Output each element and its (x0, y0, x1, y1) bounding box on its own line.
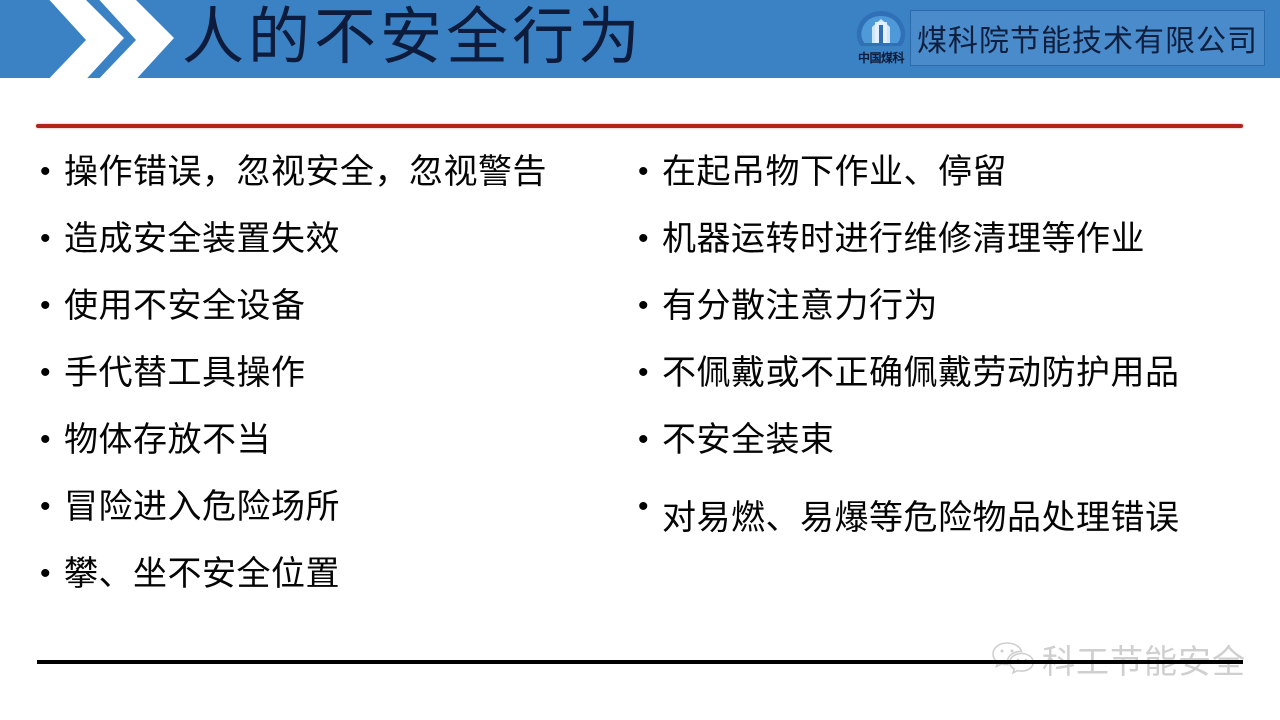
list-item: • 造成安全装置失效 (40, 217, 620, 284)
list-item: • 攀、坐不安全位置 (40, 552, 620, 619)
bullet-dot-icon: • (40, 351, 64, 395)
bullet-dot-icon: • (638, 418, 662, 462)
list-item: • 冒险进入危险场所 (40, 485, 620, 552)
watermark: 科工节能安全 (990, 632, 1246, 686)
footer-divider-black (37, 660, 1243, 664)
list-item: • 不佩戴或不正确佩戴劳动防护用品 (638, 351, 1248, 418)
list-item: • 手代替工具操作 (40, 351, 620, 418)
page-title: 人的不安全行为 (182, 0, 644, 78)
header-divider-red (36, 124, 1243, 128)
list-item-label: 手代替工具操作 (64, 351, 620, 395)
list-item: • 有分散注意力行为 (638, 284, 1248, 351)
list-item: • 对易燃、易爆等危险物品处理错误 (638, 485, 1248, 619)
list-item-label: 在起吊物下作业、停留 (662, 150, 1248, 194)
list-item: • 操作错误，忽视安全，忽视警告 (40, 150, 620, 217)
list-item-label: 机器运转时进行维修清理等作业 (662, 217, 1248, 261)
list-item-label: 对易燃、易爆等危险物品处理错误 (662, 485, 1248, 552)
list-item: • 物体存放不当 (40, 418, 620, 485)
watermark-label: 科工节能安全 (1042, 635, 1246, 683)
bullet-dot-icon: • (40, 552, 64, 596)
bullet-dot-icon: • (40, 485, 64, 529)
company-name-label: 煤科院节能技术有限公司 (917, 16, 1258, 60)
list-item-label: 不安全装束 (662, 418, 1248, 462)
list-item-label: 不佩戴或不正确佩戴劳动防护用品 (662, 351, 1248, 395)
list-item-label: 操作错误，忽视安全，忽视警告 (64, 150, 620, 194)
wechat-icon (990, 639, 1038, 679)
bullet-dot-icon: • (40, 418, 64, 462)
bullet-dot-icon: • (638, 485, 662, 529)
list-item-label: 冒险进入危险场所 (64, 485, 620, 529)
bullet-column-right: • 在起吊物下作业、停留 • 机器运转时进行维修清理等作业 • 有分散注意力行为… (638, 150, 1248, 619)
double-chevron-right-icon (36, 0, 176, 78)
bullet-dot-icon: • (40, 284, 64, 328)
bullet-dot-icon: • (40, 150, 64, 194)
bullet-dot-icon: • (638, 351, 662, 395)
bullet-dot-icon: • (638, 150, 662, 194)
list-item: • 使用不安全设备 (40, 284, 620, 351)
company-name-box: 煤科院节能技术有限公司 (910, 10, 1265, 66)
list-item-label: 物体存放不当 (64, 418, 620, 462)
list-item-label: 使用不安全设备 (64, 284, 620, 328)
bullet-dot-icon: • (638, 284, 662, 328)
bullet-dot-icon: • (40, 217, 64, 261)
list-item: • 不安全装束 (638, 418, 1248, 485)
content-area: • 操作错误，忽视安全，忽视警告 • 造成安全装置失效 • 使用不安全设备 • … (0, 150, 1280, 620)
brand-logo: 中国煤科 (845, 9, 917, 71)
brand-logo-caption: 中国煤科 (845, 49, 917, 66)
list-item-label: 有分散注意力行为 (662, 284, 1248, 328)
list-item: • 机器运转时进行维修清理等作业 (638, 217, 1248, 284)
china-coal-technology-logo-icon (853, 9, 909, 49)
list-item-label: 攀、坐不安全位置 (64, 552, 620, 596)
bullet-dot-icon: • (638, 217, 662, 261)
list-item-label: 造成安全装置失效 (64, 217, 620, 261)
list-item: • 在起吊物下作业、停留 (638, 150, 1248, 217)
bullet-column-left: • 操作错误，忽视安全，忽视警告 • 造成安全装置失效 • 使用不安全设备 • … (40, 150, 620, 619)
slide-root: 人的不安全行为 中国煤科 煤科院节能技术有限公司 • 操作错误，忽视安全，忽视警… (0, 0, 1280, 720)
